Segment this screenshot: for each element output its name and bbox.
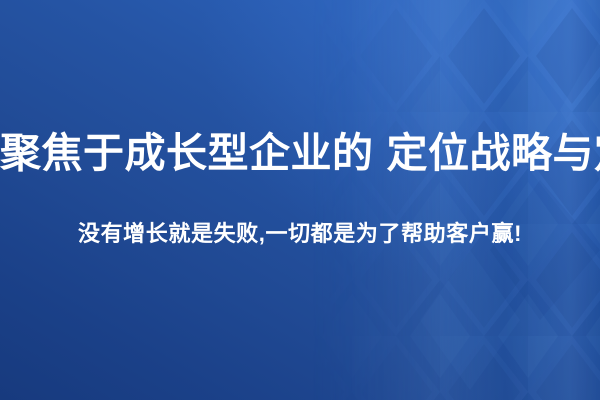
banner-subheadline: 没有增长就是失败,一切都是为了帮助客户赢! bbox=[0, 219, 600, 249]
banner-content: 聚焦于成长型企业的定位战略与定位营销 没有增长就是失败,一切都是为了帮助客户赢! bbox=[0, 0, 600, 400]
banner-headline: 聚焦于成长型企业的定位战略与定位营销 bbox=[0, 128, 600, 178]
headline-segment-1: 聚焦于成长型企业的 bbox=[0, 130, 374, 176]
headline-segment-2: 定位战略与定位营销 bbox=[387, 130, 600, 176]
promo-banner: 聚焦于成长型企业的定位战略与定位营销 没有增长就是失败,一切都是为了帮助客户赢! bbox=[0, 0, 600, 400]
